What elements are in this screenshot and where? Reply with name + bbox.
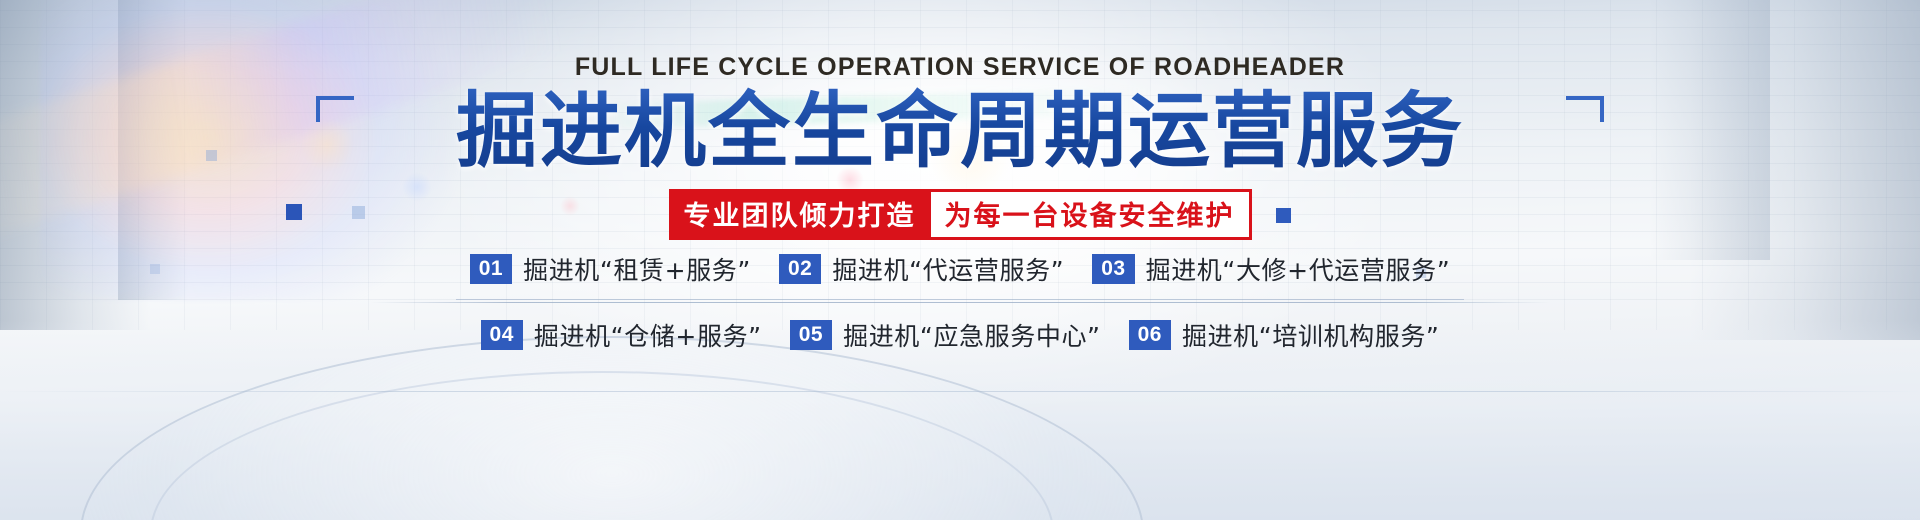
service-label: 掘进机“租赁+服务” <box>523 251 751 287</box>
service-list: 01 掘进机“租赁+服务” 02 掘进机“代运营服务” 03 掘进机“大修+代运… <box>0 243 1920 361</box>
service-label: 掘进机“培训机构服务” <box>1182 317 1440 353</box>
service-row-2: 04 掘进机“仓储+服务” 05 掘进机“应急服务中心” 06 掘进机“培训机构… <box>467 309 1454 361</box>
service-label: 掘进机“仓储+服务” <box>534 317 762 353</box>
service-divider <box>370 302 1550 303</box>
page-title: 掘进机全生命周期运营服务 <box>0 84 1920 180</box>
tagline-secondary-badge: 为每一台设备安全维护 <box>931 189 1252 240</box>
service-number-badge: 05 <box>790 320 832 350</box>
english-subtitle: FULL LIFE CYCLE OPERATION SERVICE OF ROA… <box>0 53 1920 82</box>
service-number-badge: 04 <box>481 320 523 350</box>
service-item-03[interactable]: 03 掘进机“大修+代运营服务” <box>1092 251 1450 287</box>
promotional-banner: FULL LIFE CYCLE OPERATION SERVICE OF ROA… <box>0 0 1920 520</box>
service-number-badge: 06 <box>1129 320 1171 350</box>
service-label: 掘进机“应急服务中心” <box>843 317 1101 353</box>
service-number-badge: 03 <box>1092 254 1134 284</box>
service-item-02[interactable]: 02 掘进机“代运营服务” <box>779 251 1064 287</box>
service-item-01[interactable]: 01 掘进机“租赁+服务” <box>470 251 751 287</box>
service-number-badge: 02 <box>779 254 821 284</box>
tagline-group: 专业团队倾力打造 为每一台设备安全维护 <box>0 189 1920 240</box>
service-label: 掘进机“大修+代运营服务” <box>1146 251 1451 287</box>
service-item-05[interactable]: 05 掘进机“应急服务中心” <box>790 317 1101 353</box>
service-label: 掘进机“代运营服务” <box>832 251 1064 287</box>
service-item-06[interactable]: 06 掘进机“培训机构服务” <box>1129 317 1440 353</box>
service-item-04[interactable]: 04 掘进机“仓储+服务” <box>481 317 762 353</box>
service-number-badge: 01 <box>470 254 512 284</box>
service-row-1: 01 掘进机“租赁+服务” 02 掘进机“代运营服务” 03 掘进机“大修+代运… <box>456 243 1465 300</box>
banner-content: FULL LIFE CYCLE OPERATION SERVICE OF ROA… <box>0 0 1920 520</box>
tagline-primary-badge: 专业团队倾力打造 <box>669 189 931 240</box>
